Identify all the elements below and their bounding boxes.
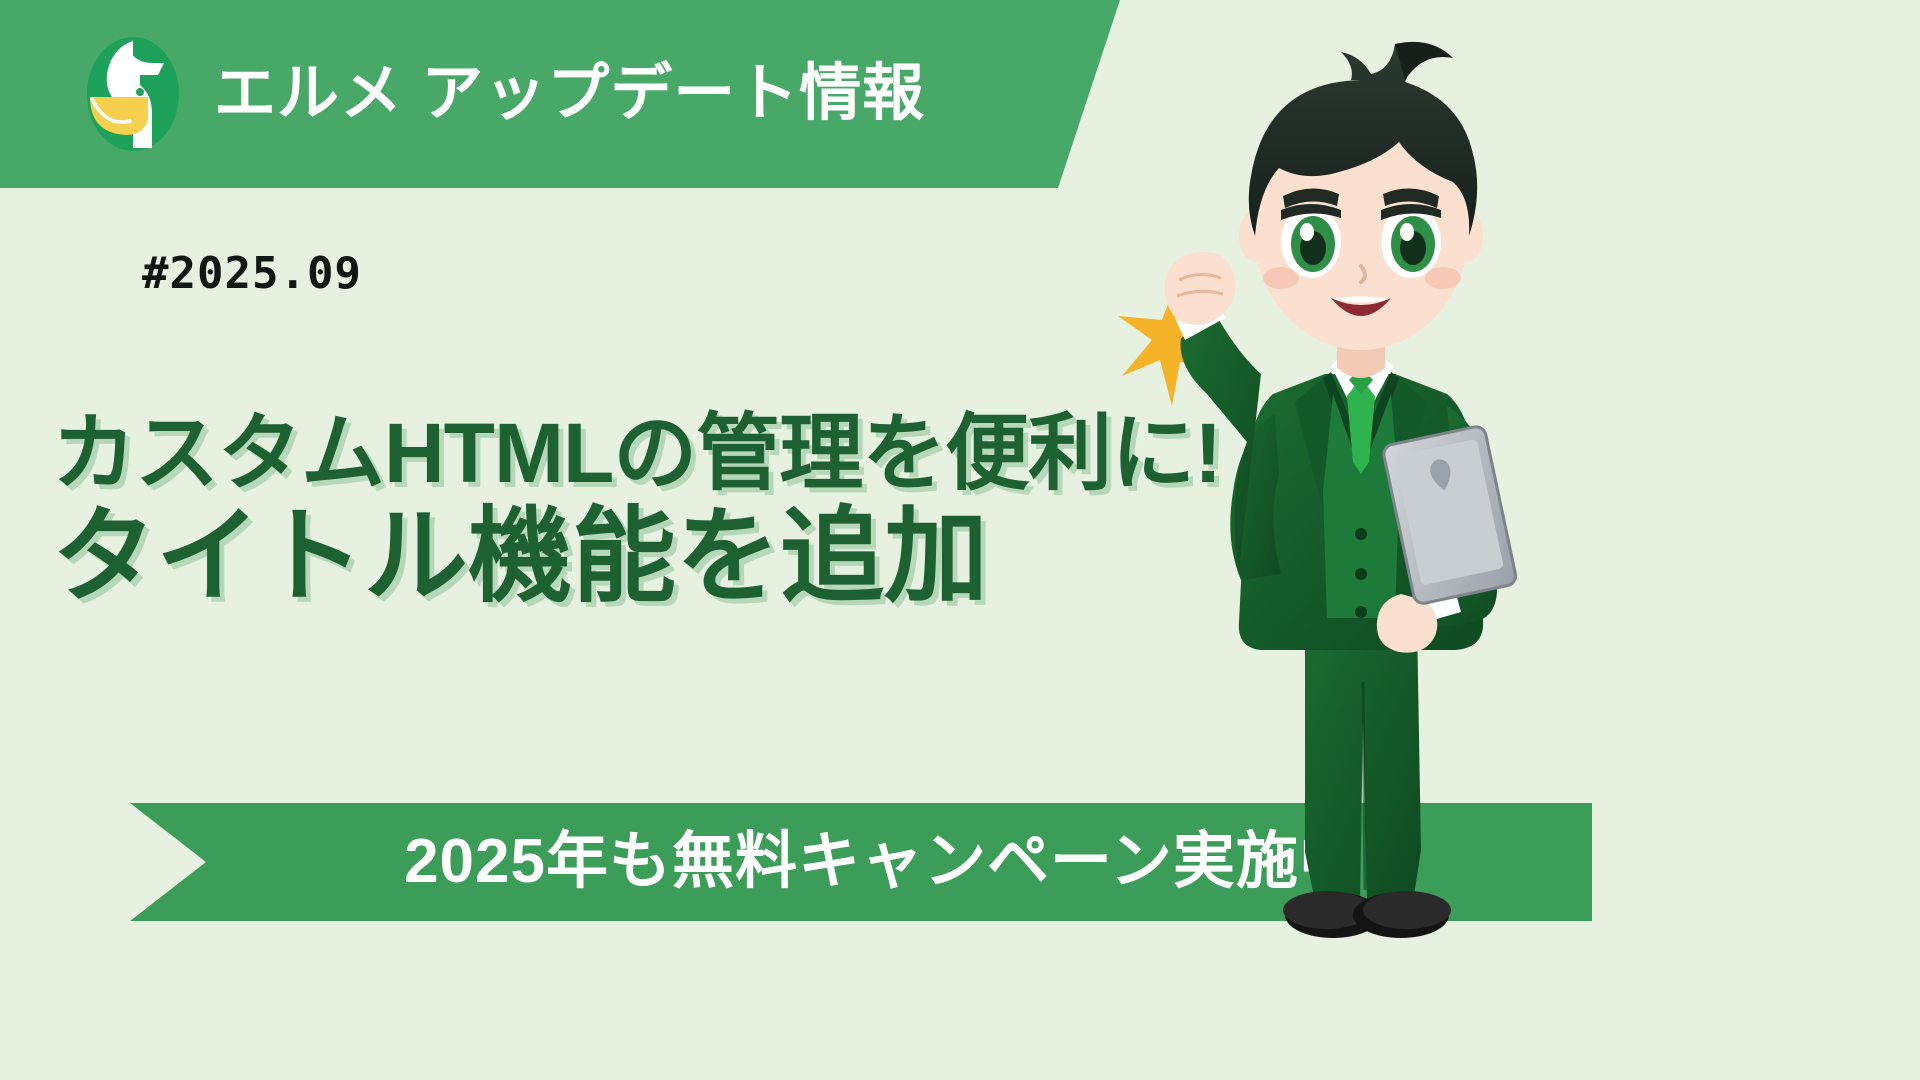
headline-block: カスタムHTMLの管理を便利に! タイトル機能を追加 xyxy=(52,408,1221,613)
header-banner: エルメ アップデート情報 xyxy=(0,0,1120,188)
headline-line-2: タイトル機能を追加 xyxy=(52,501,1221,613)
poster-canvas: エルメ アップデート情報 #2025.09 カスタムHTMLの管理を便利に! タ… xyxy=(0,0,1920,1080)
header-content: エルメ アップデート情報 xyxy=(0,0,1000,188)
lme-bird-logo-icon xyxy=(78,35,188,153)
issue-number: #2025.09 xyxy=(142,252,362,296)
header-title: エルメ アップデート情報 xyxy=(214,63,925,125)
headline-line-1: カスタムHTMLの管理を便利に! xyxy=(52,408,1221,499)
businessman-mascot-illustration xyxy=(1155,22,1575,1022)
